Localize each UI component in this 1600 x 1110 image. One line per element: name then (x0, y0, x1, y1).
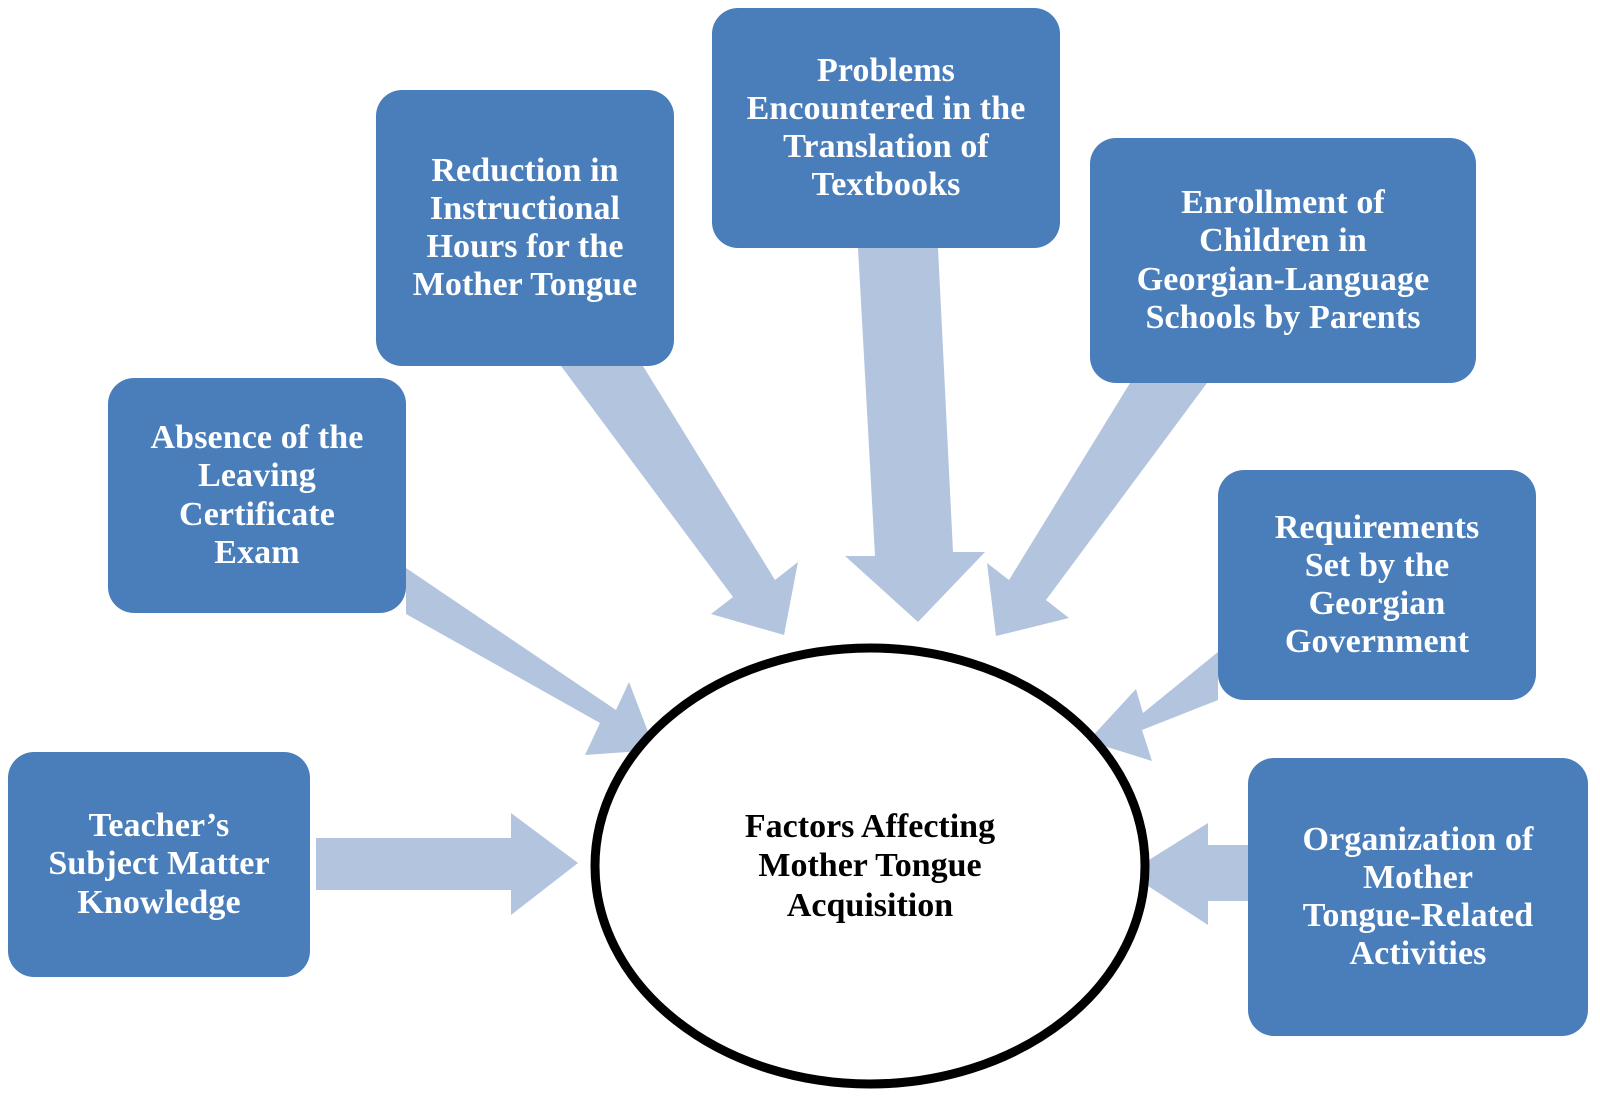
node-absence-leaving-certificate-exam[interactable]: Absence of the Leaving Certificate Exam (108, 378, 406, 613)
node-label-problems-translation-textbooks: Problems Encountered in the Translation … (722, 52, 1050, 204)
center-ellipse (595, 648, 1145, 1084)
node-label-requirements-georgian-government: Requirements Set by the Georgian Governm… (1228, 509, 1526, 661)
node-problems-translation-textbooks[interactable]: Problems Encountered in the Translation … (712, 8, 1060, 248)
node-label-organization-mother-tongue-activities: Organization of Mother Tongue-Related Ac… (1258, 821, 1578, 973)
node-reduction-instructional-hours[interactable]: Reduction in Instructional Hours for the… (376, 90, 674, 366)
node-label-reduction-instructional-hours: Reduction in Instructional Hours for the… (386, 152, 664, 304)
node-enrollment-georgian-schools[interactable]: Enrollment of Children in Georgian-Langu… (1090, 138, 1476, 383)
node-label-teacher-subject-matter-knowledge: Teacher’s Subject Matter Knowledge (18, 807, 300, 921)
node-label-enrollment-georgian-schools: Enrollment of Children in Georgian-Langu… (1100, 184, 1466, 336)
node-organization-mother-tongue-activities[interactable]: Organization of Mother Tongue-Related Ac… (1248, 758, 1588, 1036)
node-requirements-georgian-government[interactable]: Requirements Set by the Georgian Governm… (1218, 470, 1536, 700)
node-label-absence-leaving-certificate-exam: Absence of the Leaving Certificate Exam (118, 419, 396, 571)
diagram-canvas: Factors Affecting Mother Tongue Acquisit… (0, 0, 1600, 1110)
node-teacher-subject-matter-knowledge[interactable]: Teacher’s Subject Matter Knowledge (8, 752, 310, 977)
